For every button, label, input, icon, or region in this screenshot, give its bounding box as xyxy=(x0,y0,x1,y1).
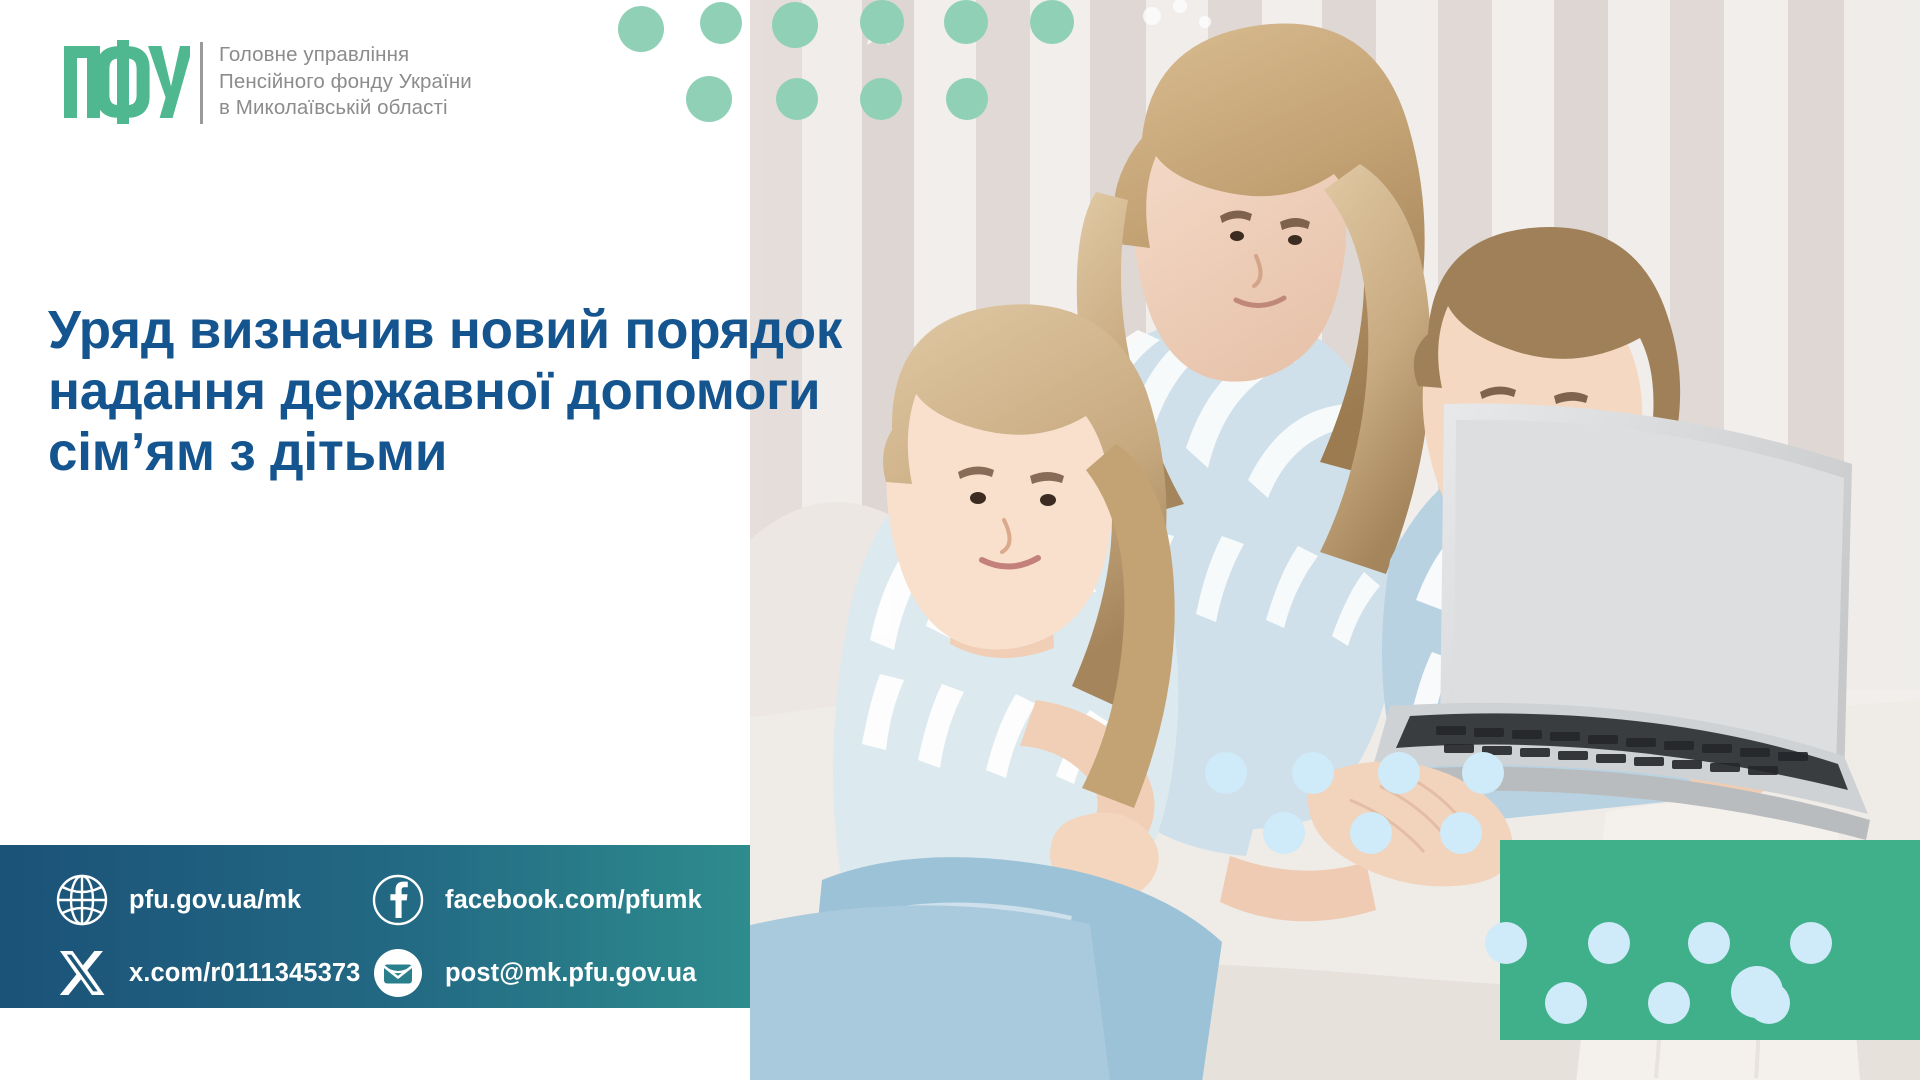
contact-x-twitter[interactable]: x.com/r0111345373 xyxy=(52,941,360,1005)
org-line-3: в Миколаївській області xyxy=(219,95,472,122)
headline-line-2: надання державної допомоги xyxy=(48,361,724,422)
contact-facebook-label: facebook.com/pfumk xyxy=(445,886,702,915)
contact-website-label: pfu.gov.ua/mk xyxy=(129,886,301,915)
poster-canvas: Головне управління Пенсійного фонду Укра… xyxy=(0,0,1920,1080)
headline-line-3: сім’ям з дітьми xyxy=(48,422,724,483)
decorative-dot-on-green xyxy=(1731,966,1783,1018)
contact-footer-bar: pfu.gov.ua/mk facebook.com/pfumk x.com/r… xyxy=(0,845,750,1008)
pfu-wordmark-icon xyxy=(62,40,190,124)
org-line-1: Головне управління xyxy=(219,42,472,69)
organization-name: Головне управління Пенсійного фонду Укра… xyxy=(219,40,472,122)
decorative-green-block xyxy=(1500,840,1920,1040)
email-icon xyxy=(368,943,428,1003)
pfu-logo-lockup: Головне управління Пенсійного фонду Укра… xyxy=(62,40,472,124)
contact-website[interactable]: pfu.gov.ua/mk xyxy=(52,868,301,932)
x-twitter-icon xyxy=(52,943,112,1003)
globe-icon xyxy=(52,870,112,930)
logo-divider xyxy=(200,42,203,124)
org-line-2: Пенсійного фонду України xyxy=(219,69,472,96)
contact-email[interactable]: post@mk.pfu.gov.ua xyxy=(368,941,696,1005)
facebook-icon xyxy=(368,870,428,930)
contact-x-twitter-label: x.com/r0111345373 xyxy=(129,959,360,988)
headline-block: Уряд визначив новий порядок надання держ… xyxy=(48,300,738,483)
headline-line-1: Уряд визначив новий порядок xyxy=(48,300,724,361)
contact-email-label: post@mk.pfu.gov.ua xyxy=(445,959,696,988)
contact-facebook[interactable]: facebook.com/pfumk xyxy=(368,868,702,932)
